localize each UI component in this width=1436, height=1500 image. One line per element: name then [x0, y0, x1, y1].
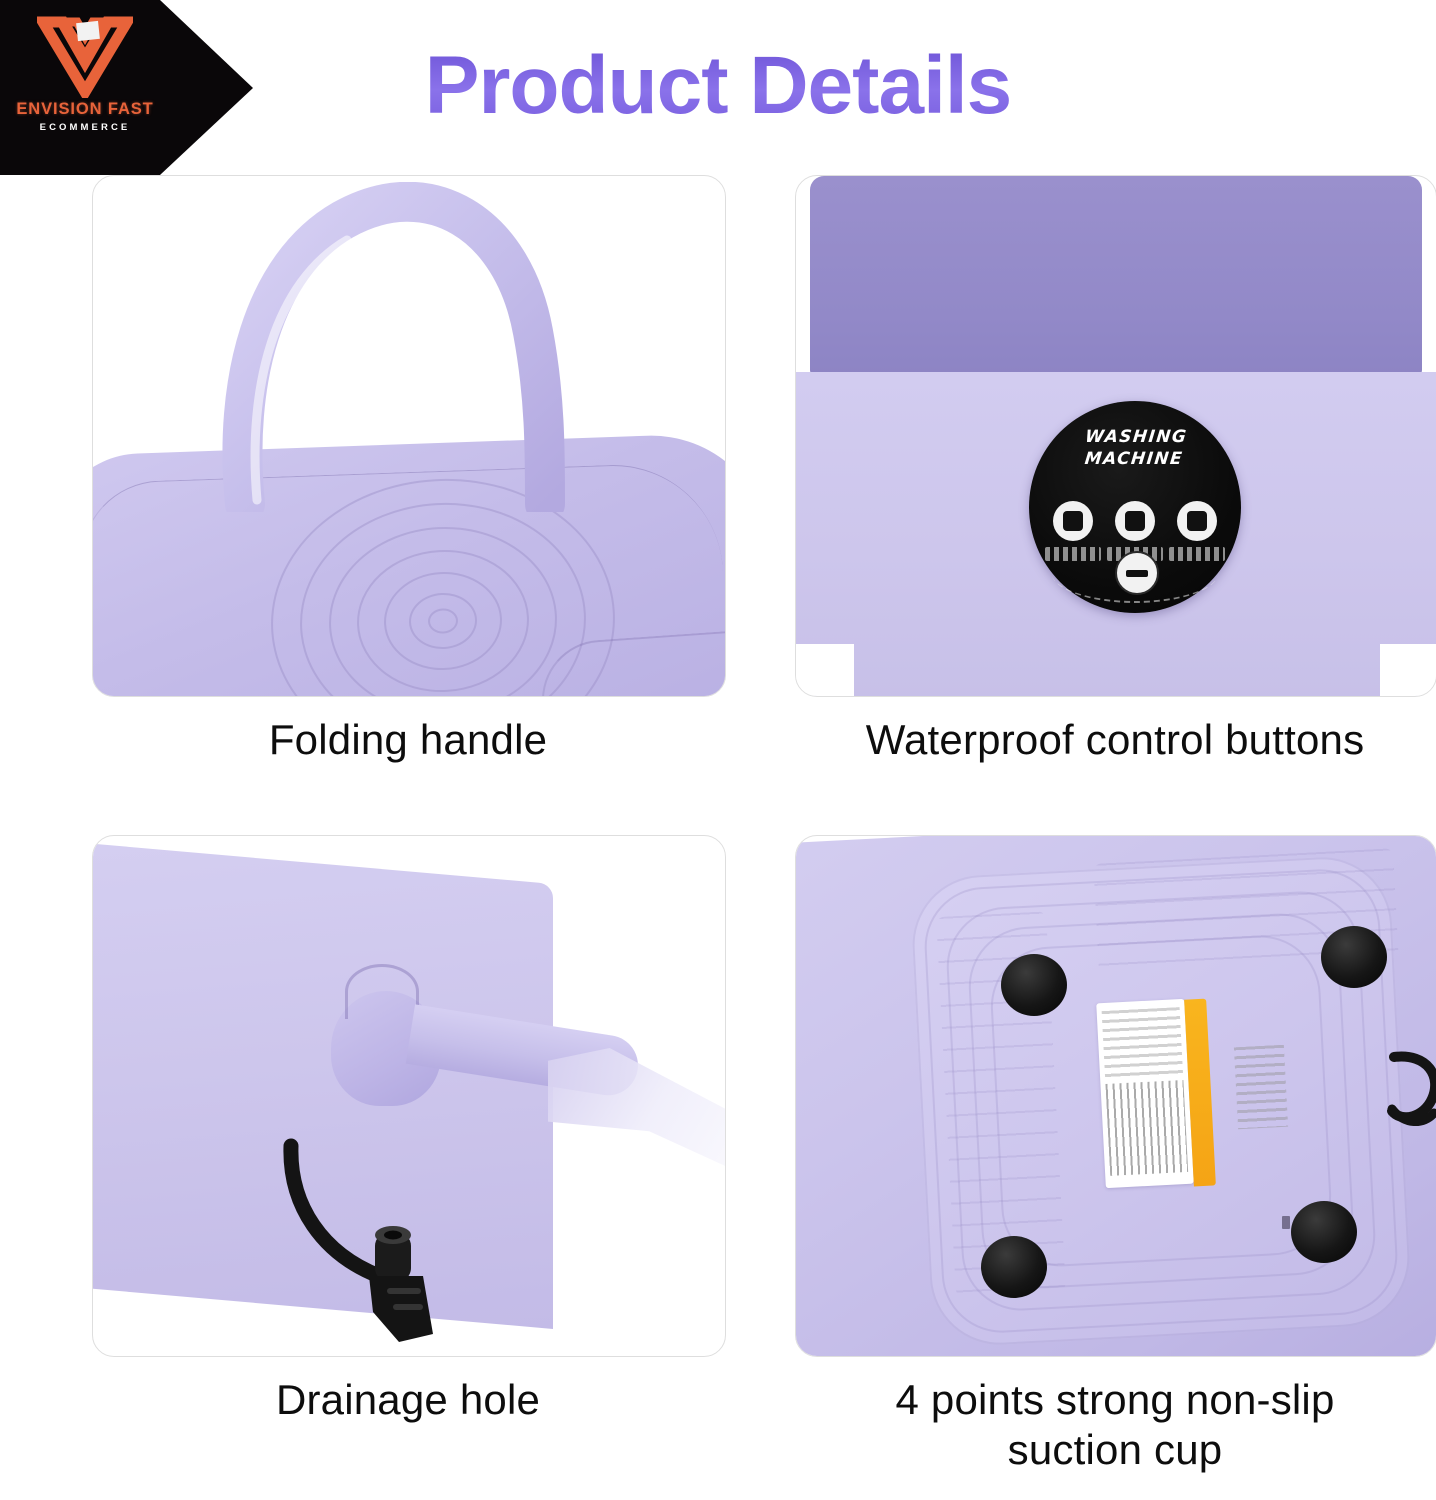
detail-cell-folding-handle: Folding handle — [92, 175, 726, 765]
product-photo-drainage-hole — [92, 835, 726, 1357]
control-brand-line2: MACHINE — [1084, 449, 1184, 469]
wash-mode-button[interactable] — [1053, 501, 1093, 541]
qr-label-icon — [1234, 1045, 1288, 1130]
drain-hose-clip — [283, 1136, 513, 1346]
barcode-icon — [1105, 1080, 1188, 1176]
suction-cup-foot — [1321, 926, 1387, 988]
detail-cell-control-buttons: WASHING MACHINE — [795, 175, 1436, 765]
suction-cup-foot — [981, 1236, 1047, 1298]
suction-cup-foot — [1291, 1201, 1357, 1263]
drain-icon — [1187, 511, 1207, 531]
machine-top-lid — [810, 176, 1422, 376]
folding-handle-icon — [193, 182, 613, 512]
control-panel-disc: WASHING MACHINE — [1029, 401, 1241, 613]
power-button[interactable] — [1115, 551, 1159, 595]
body-notch-right — [1380, 644, 1436, 697]
caption-suction-cup: 4 points strong non-slip suction cup — [795, 1375, 1435, 1474]
power-icon — [1126, 570, 1148, 577]
page-header: ENVISION FAST ECOMMERCE Product Details — [0, 0, 1436, 175]
spin-mode-button[interactable] — [1115, 501, 1155, 541]
body-notch-left — [795, 644, 854, 697]
spin-icon — [1125, 511, 1145, 531]
drain-hole-icon — [345, 964, 419, 1019]
spec-label — [1096, 999, 1194, 1188]
drain-mode-button[interactable] — [1177, 501, 1217, 541]
suction-cup-foot — [1001, 954, 1067, 1016]
spec-label-text — [1102, 1007, 1184, 1081]
caption-drainage-hole: Drainage hole — [92, 1375, 724, 1425]
product-photo-control-buttons: WASHING MACHINE — [795, 175, 1436, 697]
caption-folding-handle: Folding handle — [92, 715, 724, 765]
caption-suction-cup-line1: 4 points strong non-slip — [895, 1376, 1334, 1423]
water-stream — [548, 1048, 726, 1208]
detail-cell-drainage-hole: Drainage hole — [92, 835, 726, 1425]
control-brand-line1: WASHING — [1084, 427, 1188, 447]
product-photo-suction-cup — [795, 835, 1436, 1357]
hose-clip-icon — [1376, 1051, 1436, 1141]
wash-icon — [1063, 511, 1083, 531]
base-reset-hole — [1282, 1216, 1290, 1229]
caption-suction-cup-line2: suction cup — [1008, 1426, 1223, 1473]
detail-cell-suction-cup: 4 points strong non-slip suction cup — [795, 835, 1436, 1474]
caption-control-buttons: Waterproof control buttons — [795, 715, 1435, 765]
control-panel-brand-text: WASHING MACHINE — [1027, 427, 1244, 471]
details-grid: Folding handle WASHING MACHINE — [0, 175, 1436, 1500]
page-title: Product Details — [0, 45, 1436, 127]
product-photo-folding-handle — [92, 175, 726, 697]
